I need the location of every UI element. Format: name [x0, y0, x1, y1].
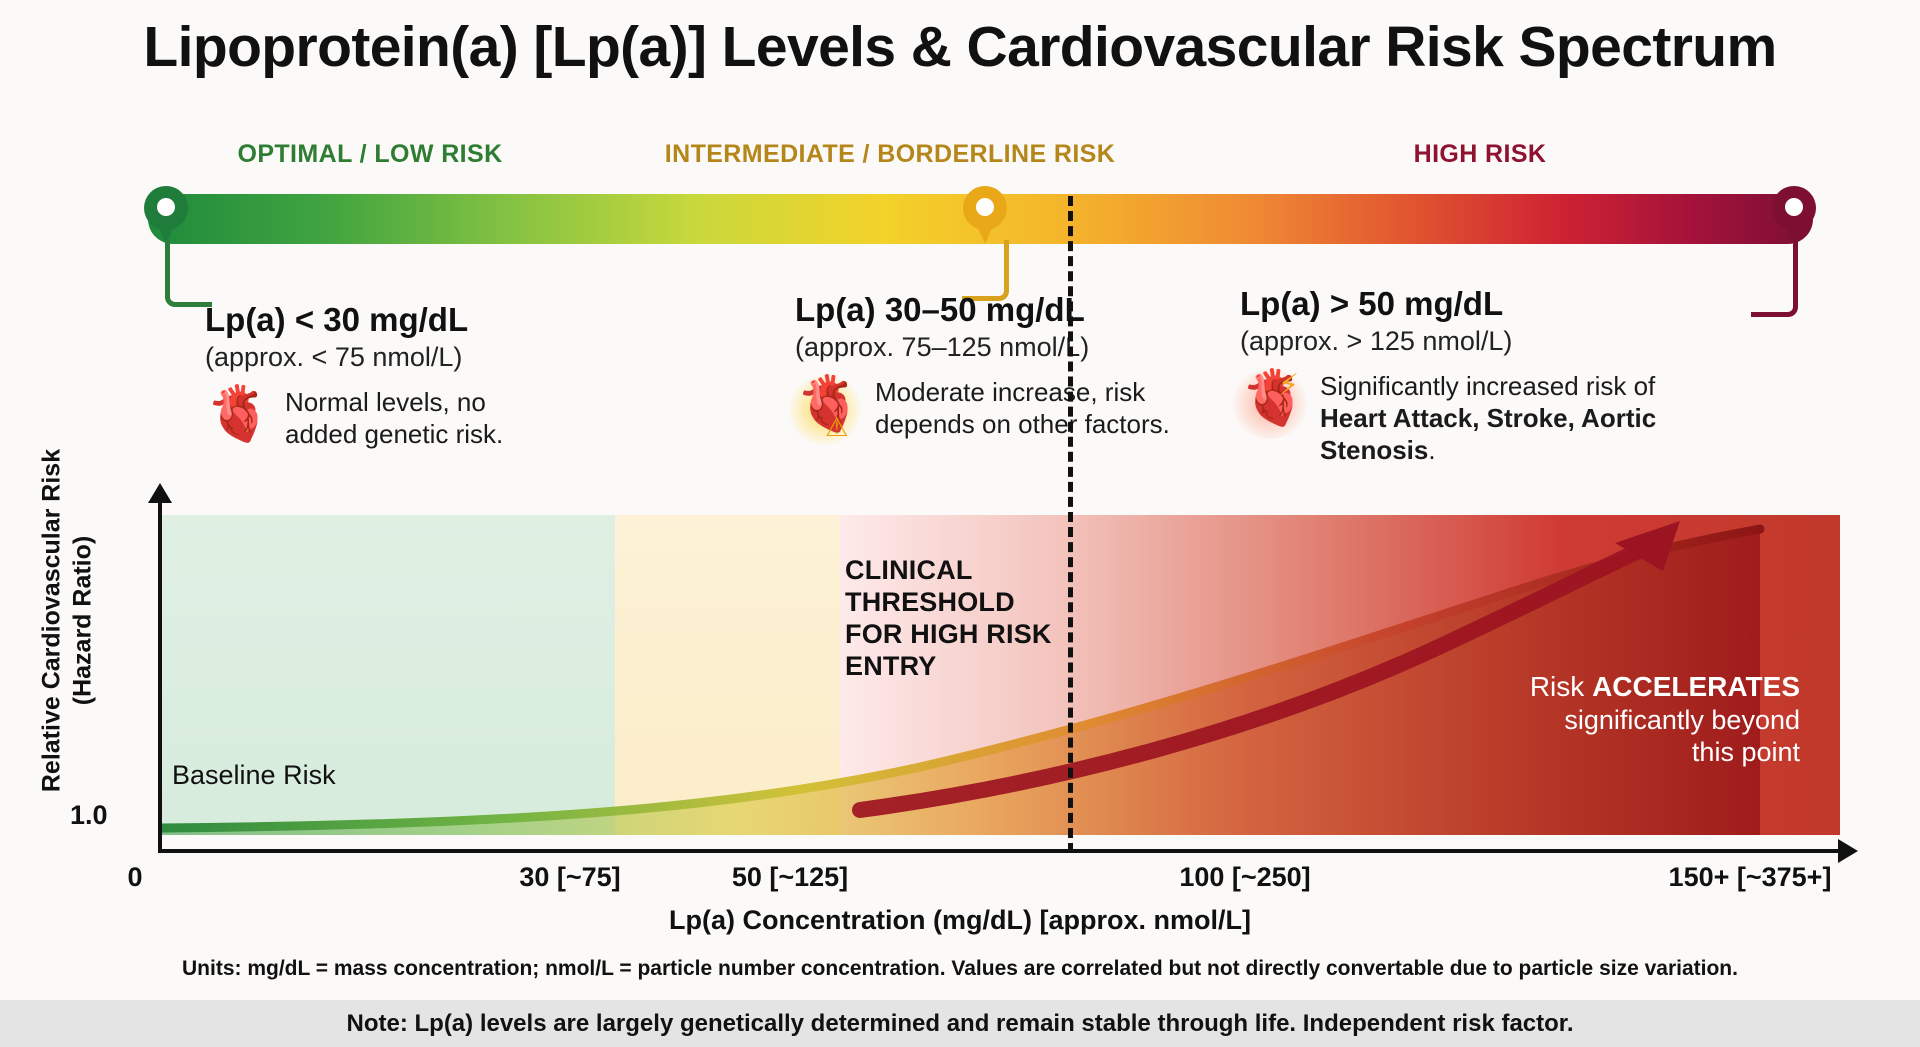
- y-axis-line: [158, 498, 162, 853]
- y-axis-arrow: [148, 483, 172, 503]
- accel-line2: significantly beyond: [1380, 704, 1800, 736]
- x-axis-ticks: 0 30 [~75] 50 [~125] 100 [~250] 150+ [~3…: [0, 862, 1920, 902]
- x-tick-50: 50 [~125]: [695, 862, 885, 893]
- y-tick-1: 1.0: [70, 800, 108, 831]
- accel-bold: ACCELERATES: [1592, 671, 1800, 702]
- anatomical-heart-icon: 🫀: [205, 387, 271, 451]
- threshold-line2: FOR HIGH RISK ENTRY: [845, 619, 1052, 681]
- infographic-root: Lipoprotein(a) [Lp(a)] Levels & Cardiova…: [0, 0, 1920, 1047]
- x-tick-30: 30 [~75]: [480, 862, 660, 893]
- x-tick-150: 150+ [~375+]: [1610, 862, 1890, 893]
- risk-curve-chart: Relative Cardiovascular Risk (Hazard Rat…: [0, 0, 1920, 1047]
- bottom-note: Note: Lp(a) levels are largely genetical…: [0, 1010, 1920, 1038]
- y-axis-label: Relative Cardiovascular Risk (Hazard Rat…: [37, 421, 98, 821]
- threshold-line1: CLINICAL THRESHOLD: [845, 555, 1015, 617]
- anatomical-heart-lightning-icon: 🫀 ⚡: [1240, 371, 1306, 435]
- annotation-baseline: Baseline Risk: [172, 760, 336, 791]
- y-axis-label-line2: (Hazard Ratio): [68, 536, 96, 705]
- x-tick-100: 100 [~250]: [1140, 862, 1350, 893]
- x-axis-label: Lp(a) Concentration (mg/dL) [approx. nmo…: [0, 905, 1920, 936]
- heart-glyph: 🫀: [205, 387, 272, 441]
- annotation-accelerates: Risk ACCELERATES significantly beyond th…: [1380, 670, 1800, 768]
- accel-line3: this point: [1380, 736, 1800, 768]
- clinical-threshold-line: [1068, 196, 1073, 853]
- y-axis-label-line1: Relative Cardiovascular Risk: [38, 449, 66, 792]
- accel-pre: Risk: [1530, 671, 1592, 702]
- units-footnote: Units: mg/dL = mass concentration; nmol/…: [0, 957, 1920, 981]
- lightning-bolt-icon: ⚡: [1278, 371, 1299, 401]
- x-axis-line: [158, 849, 1843, 853]
- x-axis-arrow: [1838, 839, 1858, 863]
- anatomical-heart-warning-icon: 🫀 ⚠: [795, 377, 861, 441]
- x-tick-0: 0: [100, 862, 170, 893]
- warning-triangle-icon: ⚠: [825, 415, 848, 441]
- annotation-clinical-threshold: CLINICAL THRESHOLD FOR HIGH RISK ENTRY: [845, 555, 1075, 682]
